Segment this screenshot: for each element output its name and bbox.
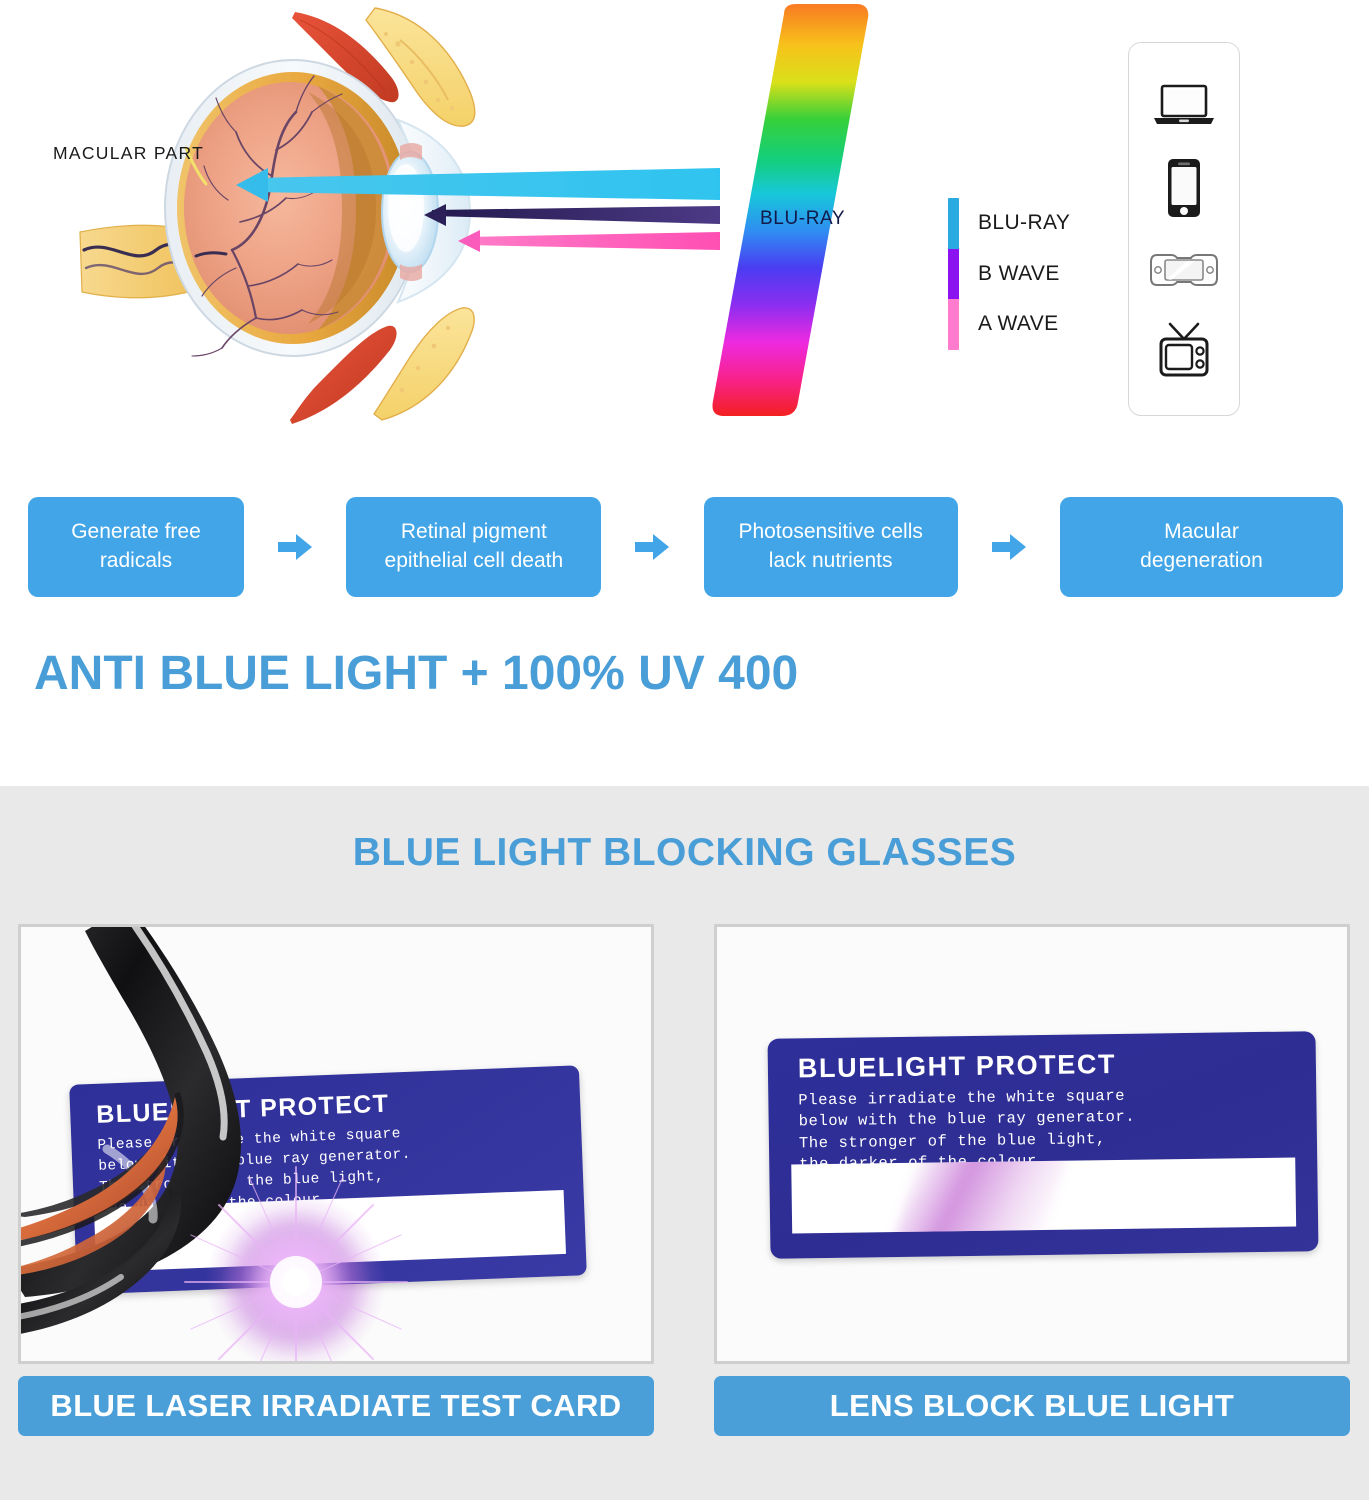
legend-swatch-blu-ray [948, 198, 959, 249]
right-arrow-icon [633, 532, 671, 562]
panel-left-caption: BLUE LASER IRRADIATE TEST CARD [18, 1376, 654, 1436]
handheld-console-icon [1147, 236, 1221, 304]
demo-panels: BLUELIGHT PROTECT Please irradiate the w… [18, 924, 1351, 1364]
laptop-icon [1147, 72, 1221, 140]
test-card-right: BLUELIGHT PROTECT Please irradiate the w… [767, 1031, 1318, 1259]
flow-step-4: Macular degeneration [1060, 497, 1343, 597]
spectrum-bluray-label: BLU-RAY [760, 208, 845, 230]
legend-row-a-wave: A WAVE [978, 299, 1138, 350]
legend-swatch-a-wave [948, 299, 959, 350]
flow-step-1: Generate free radicals [28, 497, 244, 597]
flow-step-4-label: Macular degeneration [1140, 518, 1263, 576]
legend-label-a-wave: A WAVE [978, 312, 1059, 336]
flow-step-2: Retinal pigment epithelial cell death [346, 497, 601, 597]
lens-block-test-photo: BLUELIGHT PROTECT Please irradiate the w… [714, 924, 1350, 1364]
right-arrow-icon [990, 532, 1028, 562]
smartphone-icon [1147, 154, 1221, 222]
eye-anatomy-illustration [0, 0, 720, 440]
flow-arrow-2 [601, 532, 703, 562]
top-section: MACULAR PART [0, 0, 1369, 786]
flow-step-2-label: Retinal pigment epithelial cell death [385, 518, 564, 576]
test-card-right-title: BLUELIGHT PROTECT [798, 1049, 1117, 1084]
flow-step-3-label: Photosensitive cells lack nutrients [738, 518, 922, 576]
blue-laser-test-photo: BLUELIGHT PROTECT Please irradiate the w… [18, 924, 654, 1364]
infographic-page: MACULAR PART [0, 0, 1369, 1500]
flow-arrow-1 [244, 532, 346, 562]
damage-flow-chart: Generate free radicals Retinal pigment e… [28, 497, 1343, 597]
right-arrow-icon [276, 532, 314, 562]
panel-right-caption: LENS BLOCK BLUE LIGHT [714, 1376, 1350, 1436]
television-icon [1147, 318, 1221, 386]
macular-part-label: MACULAR PART [53, 143, 204, 164]
flow-step-3: Photosensitive cells lack nutrients [704, 497, 958, 597]
legend-color-bar [948, 198, 959, 350]
legend-swatch-b-wave [948, 249, 959, 300]
main-headline: ANTI BLUE LIGHT + 100% UV 400 [34, 646, 798, 701]
flow-arrow-3 [958, 532, 1060, 562]
test-card-right-window [791, 1157, 1296, 1233]
blue-light-sources-panel [1128, 42, 1240, 416]
sunglasses-photo-illustration [18, 924, 341, 1364]
legend-label-blu-ray: BLU-RAY [978, 211, 1070, 235]
wave-legend: BLU-RAY B WAVE A WAVE [948, 198, 1138, 358]
section-title: BLUE LIGHT BLOCKING GLASSES [0, 831, 1369, 875]
demo-panel-left: BLUELIGHT PROTECT Please irradiate the w… [18, 924, 654, 1364]
demo-panel-right: BLUELIGHT PROTECT Please irradiate the w… [714, 924, 1350, 1364]
legend-row-blu-ray: BLU-RAY [978, 198, 1138, 249]
eye-diagram: MACULAR PART [0, 0, 720, 440]
legend-label-b-wave: B WAVE [978, 262, 1060, 286]
legend-row-b-wave: B WAVE [978, 249, 1138, 300]
flow-step-1-label: Generate free radicals [71, 518, 201, 576]
purple-glow-streak [887, 1157, 1071, 1233]
bottom-section: BLUE LIGHT BLOCKING GLASSES BLUELIGHT PR… [0, 786, 1369, 1500]
